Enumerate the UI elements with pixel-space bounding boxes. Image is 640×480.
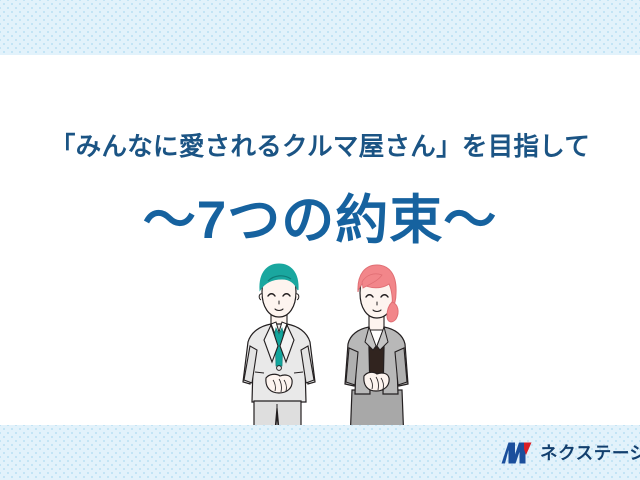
headline-main-title: 〜7つの約束〜 — [0, 178, 640, 254]
nextage-n-mark — [500, 441, 533, 465]
slide-canvas: 「みんなに愛されるクルマ屋さん」を目指して 〜7つの約束〜 — [0, 0, 640, 480]
nextage-logo: ネクステージ — [500, 440, 640, 465]
staff-illustration — [0, 262, 640, 442]
nextage-wordmark: ネクステージ — [540, 440, 640, 465]
female-staff-bowing — [338, 262, 418, 442]
male-staff-bowing — [238, 262, 320, 442]
headline-subtitle: 「みんなに愛されるクルマ屋さん」を目指して — [0, 126, 640, 163]
top-dotted-band — [0, 0, 640, 55]
